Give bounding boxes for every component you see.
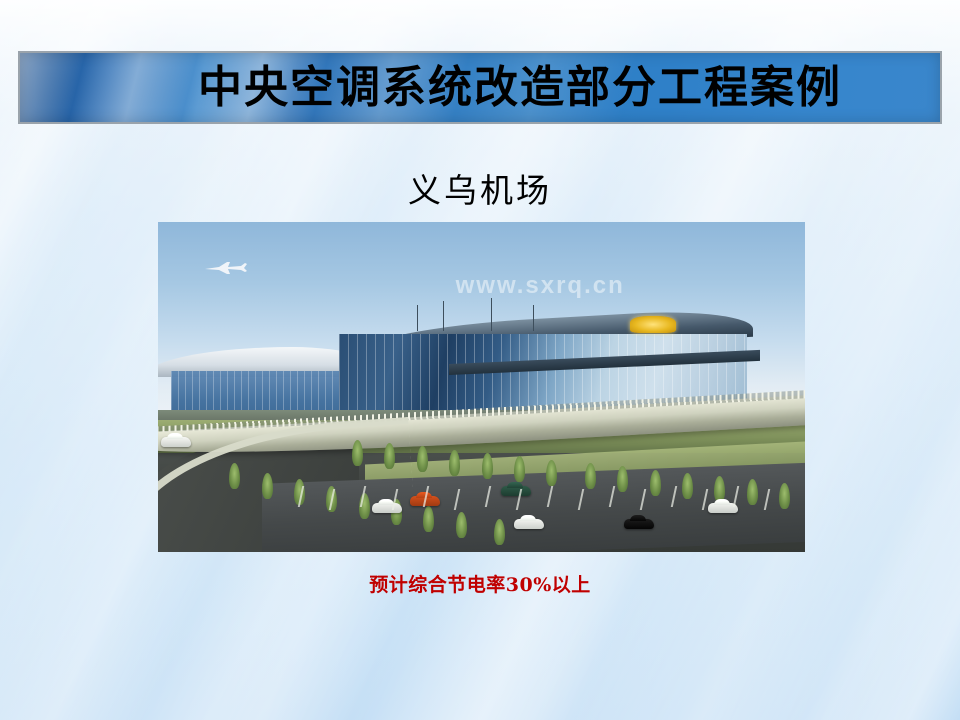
- title-banner: 中央空调系统改造部分工程案例: [18, 51, 942, 124]
- parked-car: [372, 503, 402, 513]
- tree: [585, 463, 596, 489]
- roof-mast: [491, 298, 492, 331]
- tree: [417, 446, 428, 472]
- roof-mast: [417, 305, 418, 331]
- parked-car: [514, 519, 544, 529]
- tree: [514, 456, 525, 482]
- energy-saving-caption: 预计综合节电率30%以上: [369, 574, 591, 596]
- parked-car: [501, 486, 531, 496]
- roof-mast: [533, 305, 534, 331]
- tree: [262, 473, 273, 499]
- tree: [747, 479, 758, 505]
- subtitle-container: 义乌机场: [0, 164, 960, 212]
- photo-canvas: www.sxrq.cn www.sxrq.cn www.sxrq.cn: [158, 222, 805, 552]
- tree: [482, 453, 493, 479]
- roof-mast: [443, 301, 444, 331]
- tree: [456, 512, 467, 538]
- caption-container: 预计综合节电率30%以上: [0, 570, 960, 597]
- airport-photo: www.sxrq.cn www.sxrq.cn www.sxrq.cn: [158, 222, 805, 552]
- airplane-icon: [203, 262, 249, 274]
- subtitle-text: 义乌机场: [408, 171, 552, 210]
- parked-car: [624, 519, 654, 529]
- parked-car: [161, 437, 191, 447]
- presentation-slide: 中央空调系统改造部分工程案例 义乌机场 www.sxrq.cn www.sxrq…: [0, 0, 960, 720]
- terminal-gold-logo: [630, 316, 675, 333]
- tree: [650, 470, 661, 496]
- slide-title: 中央空调系统改造部分工程案例: [118, 66, 842, 110]
